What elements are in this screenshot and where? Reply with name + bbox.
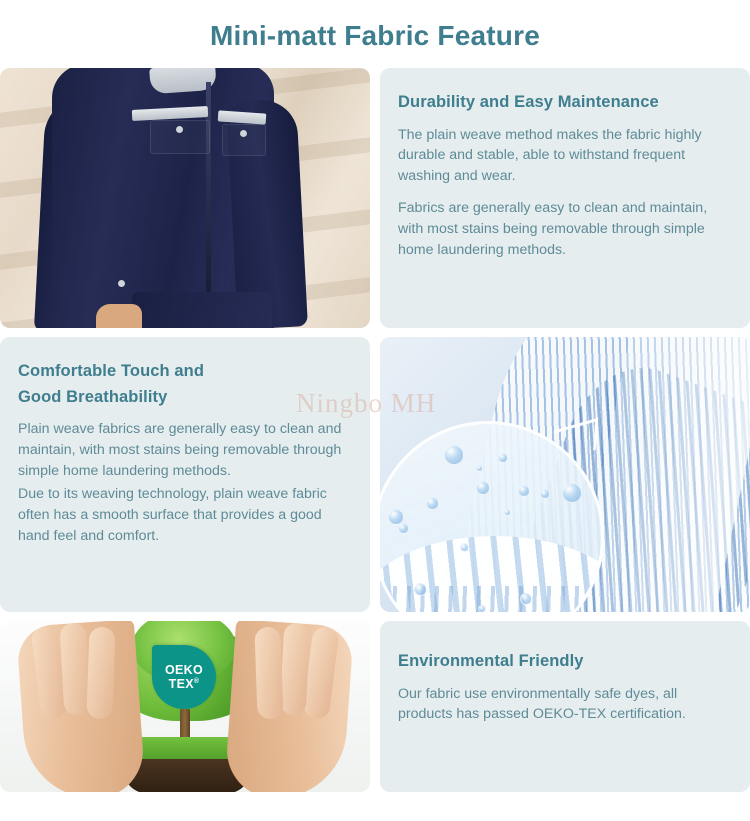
left-hand-finger (86, 627, 115, 720)
jacket-button (176, 126, 183, 133)
feature-heading-environmental: Environmental Friendly (398, 649, 732, 675)
feature-row-environmental: OEKO TEX® Environmental Friendly Our fab… (0, 621, 750, 801)
water-droplet (562, 483, 582, 503)
feature-image-jacket (0, 68, 370, 328)
water-droplet (476, 465, 483, 472)
feature-paragraph: Due to its weaving technology, plain wea… (18, 484, 352, 547)
water-droplet (444, 445, 464, 465)
jacket-zipper (206, 82, 211, 326)
feature-paragraph: The plain weave method makes the fabric … (398, 125, 732, 188)
left-hand-finger (60, 622, 91, 715)
water-droplet (520, 593, 532, 605)
water-droplet (504, 509, 511, 516)
feature-text-environmental: Environmental Friendly Our fabric use en… (380, 621, 750, 792)
water-droplet (460, 543, 469, 552)
jacket-photo (0, 68, 370, 328)
registered-mark: ® (194, 678, 199, 685)
water-droplet (518, 485, 530, 497)
right-hand-finger (280, 622, 311, 715)
water-droplet (540, 489, 550, 499)
page-title: Mini-matt Fabric Feature (0, 0, 750, 68)
feature-image-eco: OEKO TEX® (0, 621, 370, 792)
oeko-tex-badge-label: OEKO TEX® (165, 663, 203, 691)
feature-paragraph: Our fabric use environmentally safe dyes… (398, 684, 732, 726)
water-droplet (414, 583, 427, 596)
oeko-tex-line2: TEX (169, 677, 194, 691)
eco-photo: OEKO TEX® (0, 621, 370, 792)
right-hand-finger (254, 627, 283, 720)
oeko-tex-badge-icon: OEKO TEX® (152, 645, 216, 709)
feature-row-durability: Durability and Easy Maintenance The plai… (0, 68, 750, 337)
water-droplet (398, 523, 409, 534)
feature-heading-comfort: Comfortable Touch and Good Breathability (18, 359, 352, 410)
water-droplet (478, 605, 486, 612)
work-trousers (132, 292, 272, 328)
feature-heading-durability: Durability and Easy Maintenance (398, 90, 732, 116)
feature-text-comfort: Comfortable Touch and Good Breathability… (0, 337, 370, 612)
water-droplet (498, 453, 508, 463)
feature-row-comfort: Comfortable Touch and Good Breathability… (0, 337, 750, 621)
feature-image-weave (380, 337, 750, 612)
jacket-button (240, 130, 247, 137)
feature-paragraph: Fabrics are generally easy to clean and … (398, 198, 732, 261)
model-hand (96, 304, 142, 328)
water-droplet (476, 481, 490, 495)
oeko-tex-line1: OEKO (165, 663, 203, 677)
feature-page: Mini-matt Fabric Feature (0, 0, 750, 821)
weave-photo (380, 337, 750, 612)
feature-paragraph: Plain weave fabrics are generally easy t… (18, 419, 352, 482)
jacket-chest-pocket (222, 124, 266, 156)
feature-heading-comfort-line2: Good Breathability (18, 385, 352, 411)
feature-text-durability: Durability and Easy Maintenance The plai… (380, 68, 750, 328)
water-droplet (426, 497, 439, 510)
jacket-button (118, 280, 125, 287)
feature-heading-comfort-line1: Comfortable Touch and (18, 362, 204, 380)
